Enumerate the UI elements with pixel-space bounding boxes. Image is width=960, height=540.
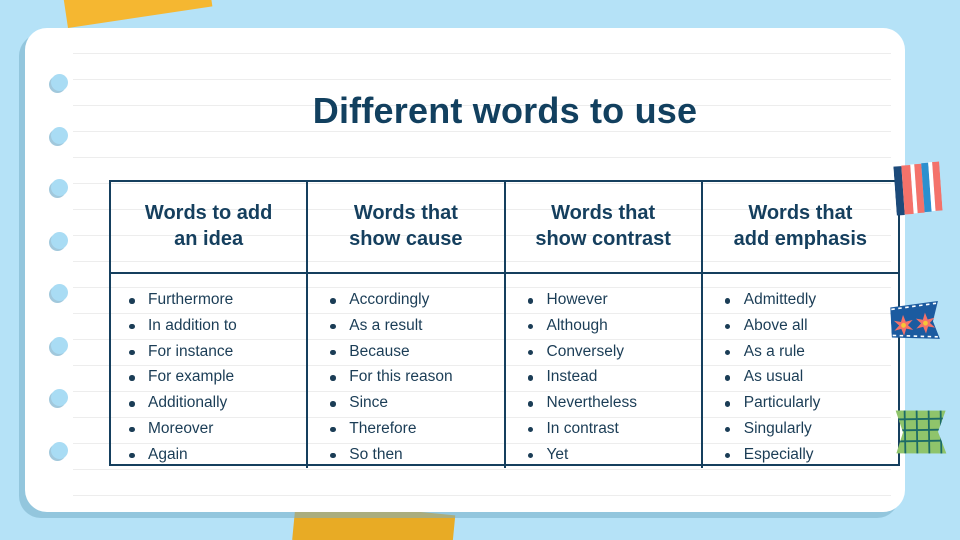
word-list-item: In addition to	[111, 313, 306, 339]
column-header-line-1: Words to add	[145, 201, 272, 227]
word-list-item: Especially	[703, 442, 898, 468]
word-list-item: For this reason	[308, 364, 503, 390]
column-header-line-2: show cause	[349, 227, 462, 253]
word-list-item: Furthermore	[111, 287, 306, 313]
floral-washi-tape-icon	[890, 301, 948, 344]
column-words-to-add-an-idea: FurthermoreIn addition toFor instanceFor…	[111, 274, 306, 468]
column-header-line-1: Words that	[535, 201, 671, 227]
punch-hole	[51, 337, 68, 354]
column-header-line-1: Words that	[734, 201, 867, 227]
word-list-item: As a rule	[703, 339, 898, 365]
word-list-item: Since	[308, 390, 503, 416]
striped-washi-tape-icon	[893, 161, 943, 216]
word-list-item: Nevertheless	[506, 390, 701, 416]
column-header-words-that-show-cause: Words that show cause	[306, 182, 503, 272]
word-list-item: Therefore	[308, 416, 503, 442]
word-list-item: Particularly	[703, 390, 898, 416]
word-list: AccordinglyAs a resultBecauseFor this re…	[308, 274, 503, 468]
yellow-shape-top	[61, 0, 212, 28]
notebook-card: Different words to use Words to add an i…	[25, 28, 905, 512]
table-body-row: FurthermoreIn addition toFor instanceFor…	[111, 274, 898, 468]
column-words-that-show-contrast: HoweverAlthoughConverselyInsteadNeverthe…	[504, 274, 701, 468]
word-list: FurthermoreIn addition toFor instanceFor…	[111, 274, 306, 468]
column-words-that-add-emphasis: AdmittedlyAbove allAs a ruleAs usualPart…	[701, 274, 898, 468]
punch-hole	[51, 442, 68, 459]
column-header-words-that-show-contrast: Words that show contrast	[504, 182, 701, 272]
word-list: AdmittedlyAbove allAs a ruleAs usualPart…	[703, 274, 898, 468]
punch-hole	[51, 127, 68, 144]
punch-hole	[51, 284, 68, 301]
column-words-that-show-cause: AccordinglyAs a resultBecauseFor this re…	[306, 274, 503, 468]
word-list-item: However	[506, 287, 701, 313]
word-list-item: Instead	[506, 364, 701, 390]
punch-hole	[51, 389, 68, 406]
column-header-line-2: add emphasis	[734, 227, 867, 253]
column-header-line-2: show contrast	[535, 227, 671, 253]
punch-hole	[51, 74, 68, 91]
column-header-words-that-add-emphasis: Words that add emphasis	[701, 182, 898, 272]
word-list-item: Moreover	[111, 416, 306, 442]
word-list-item: For example	[111, 364, 306, 390]
grid-washi-tape-icon	[896, 410, 947, 456]
word-list-item: Accordingly	[308, 287, 503, 313]
column-header-line-2: an idea	[145, 227, 272, 253]
word-list-item: As usual	[703, 364, 898, 390]
slide-canvas: Different words to use Words to add an i…	[0, 0, 960, 540]
word-list-item: Above all	[703, 313, 898, 339]
word-list-item: As a result	[308, 313, 503, 339]
punch-hole	[51, 179, 68, 196]
words-table: Words to add an idea Words that show cau…	[109, 180, 900, 466]
word-list: HoweverAlthoughConverselyInsteadNeverthe…	[506, 274, 701, 468]
word-list-item: Conversely	[506, 339, 701, 365]
column-header-line-1: Words that	[349, 201, 462, 227]
table-header-row: Words to add an idea Words that show cau…	[111, 182, 898, 274]
word-list-item: Additionally	[111, 390, 306, 416]
page-title: Different words to use	[109, 90, 901, 132]
word-list-item: In contrast	[506, 416, 701, 442]
word-list-item: Admittedly	[703, 287, 898, 313]
word-list-item: So then	[308, 442, 503, 468]
word-list-item: Although	[506, 313, 701, 339]
word-list-item: Singularly	[703, 416, 898, 442]
word-list-item: Because	[308, 339, 503, 365]
word-list-item: Yet	[506, 442, 701, 468]
column-header-words-to-add-an-idea: Words to add an idea	[111, 182, 306, 272]
punch-hole	[51, 232, 68, 249]
word-list-item: Again	[111, 442, 306, 468]
word-list-item: For instance	[111, 339, 306, 365]
